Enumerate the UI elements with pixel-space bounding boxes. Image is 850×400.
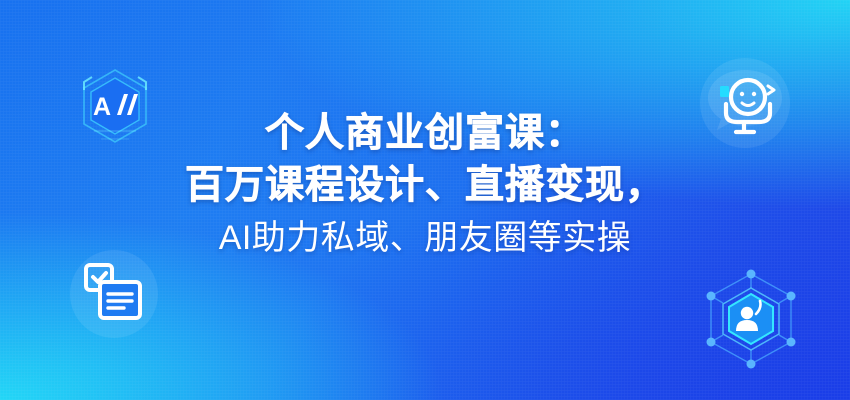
hex-network-icon: [690, 262, 812, 376]
course-banner: A: [0, 0, 850, 400]
headline-line-2: 百万课程设计、直播变现，: [0, 160, 850, 212]
page-title: 个人商业创富课： 百万课程设计、直播变现， AI助力私域、朋友圈等实操: [0, 108, 850, 264]
headline-line-3: AI助力私域、朋友圈等实操: [0, 212, 850, 264]
headline-line-1: 个人商业创富课：: [0, 108, 850, 160]
